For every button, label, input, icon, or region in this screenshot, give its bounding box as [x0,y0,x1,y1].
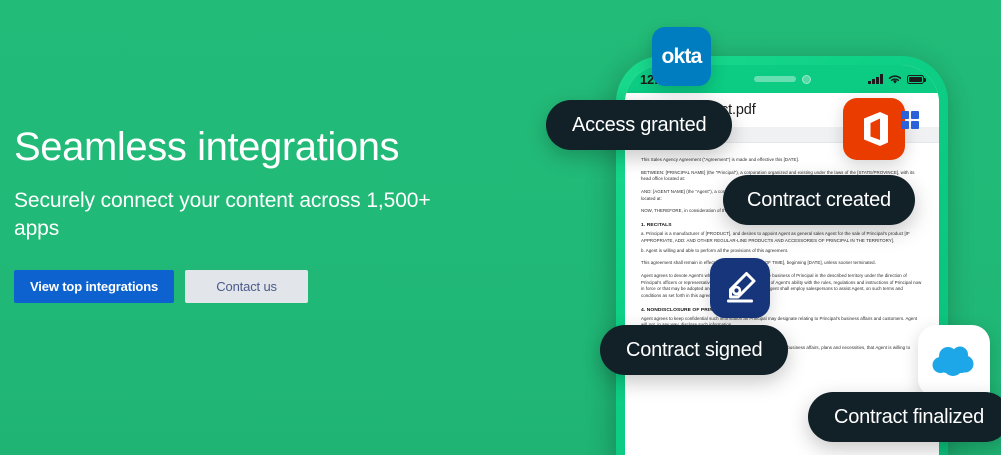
signal-bars-icon [868,74,883,84]
pill-contract-finalized: Contract finalized [808,392,1001,442]
hero-copy: Seamless integrations Securely connect y… [14,125,534,303]
battery-icon [907,75,924,84]
doc-paragraph: Agent agrees to devote Agent's whole tim… [641,273,923,300]
contact-us-button[interactable]: Contact us [185,270,308,303]
salesforce-app-tile[interactable] [918,325,990,397]
hero-banner: Seamless integrations Securely connect y… [0,0,1001,455]
doc-paragraph: a. Principal is a manufacturer of [PRODU… [641,231,923,244]
hero-button-row: View top integrations Contact us [14,270,534,303]
doc-section-heading: 4. NONDISCLOSURE OF PRINCIPAL'S AFFAIRS [641,308,923,313]
doc-paragraph: This agreement shall remain in effect fo… [641,260,923,267]
esignature-app-tile[interactable] [710,258,770,318]
okta-logo-icon: okta [662,45,702,69]
hero-subtitle: Securely connect your content across 1,5… [14,187,469,242]
cloud-icon [931,345,977,377]
pill-access-granted: Access granted [546,100,732,150]
pill-contract-signed: Contract signed [600,325,788,375]
pen-nib-icon [722,271,758,305]
view-top-integrations-button[interactable]: View top integrations [14,270,174,303]
doc-paragraph: b. Agent is willing and able to perform … [641,248,923,255]
wifi-icon [888,74,902,85]
page-title: Seamless integrations [14,125,534,170]
okta-app-tile[interactable]: okta [652,27,711,86]
status-icons [868,74,924,85]
office-365-app-tile[interactable] [843,98,905,160]
pill-contract-created: Contract created [723,175,915,225]
office-365-icon [857,110,891,148]
app-launcher-grid-icon [901,111,919,129]
hero-illustration: 12:00 Sales Contract.pdf [600,0,1001,455]
